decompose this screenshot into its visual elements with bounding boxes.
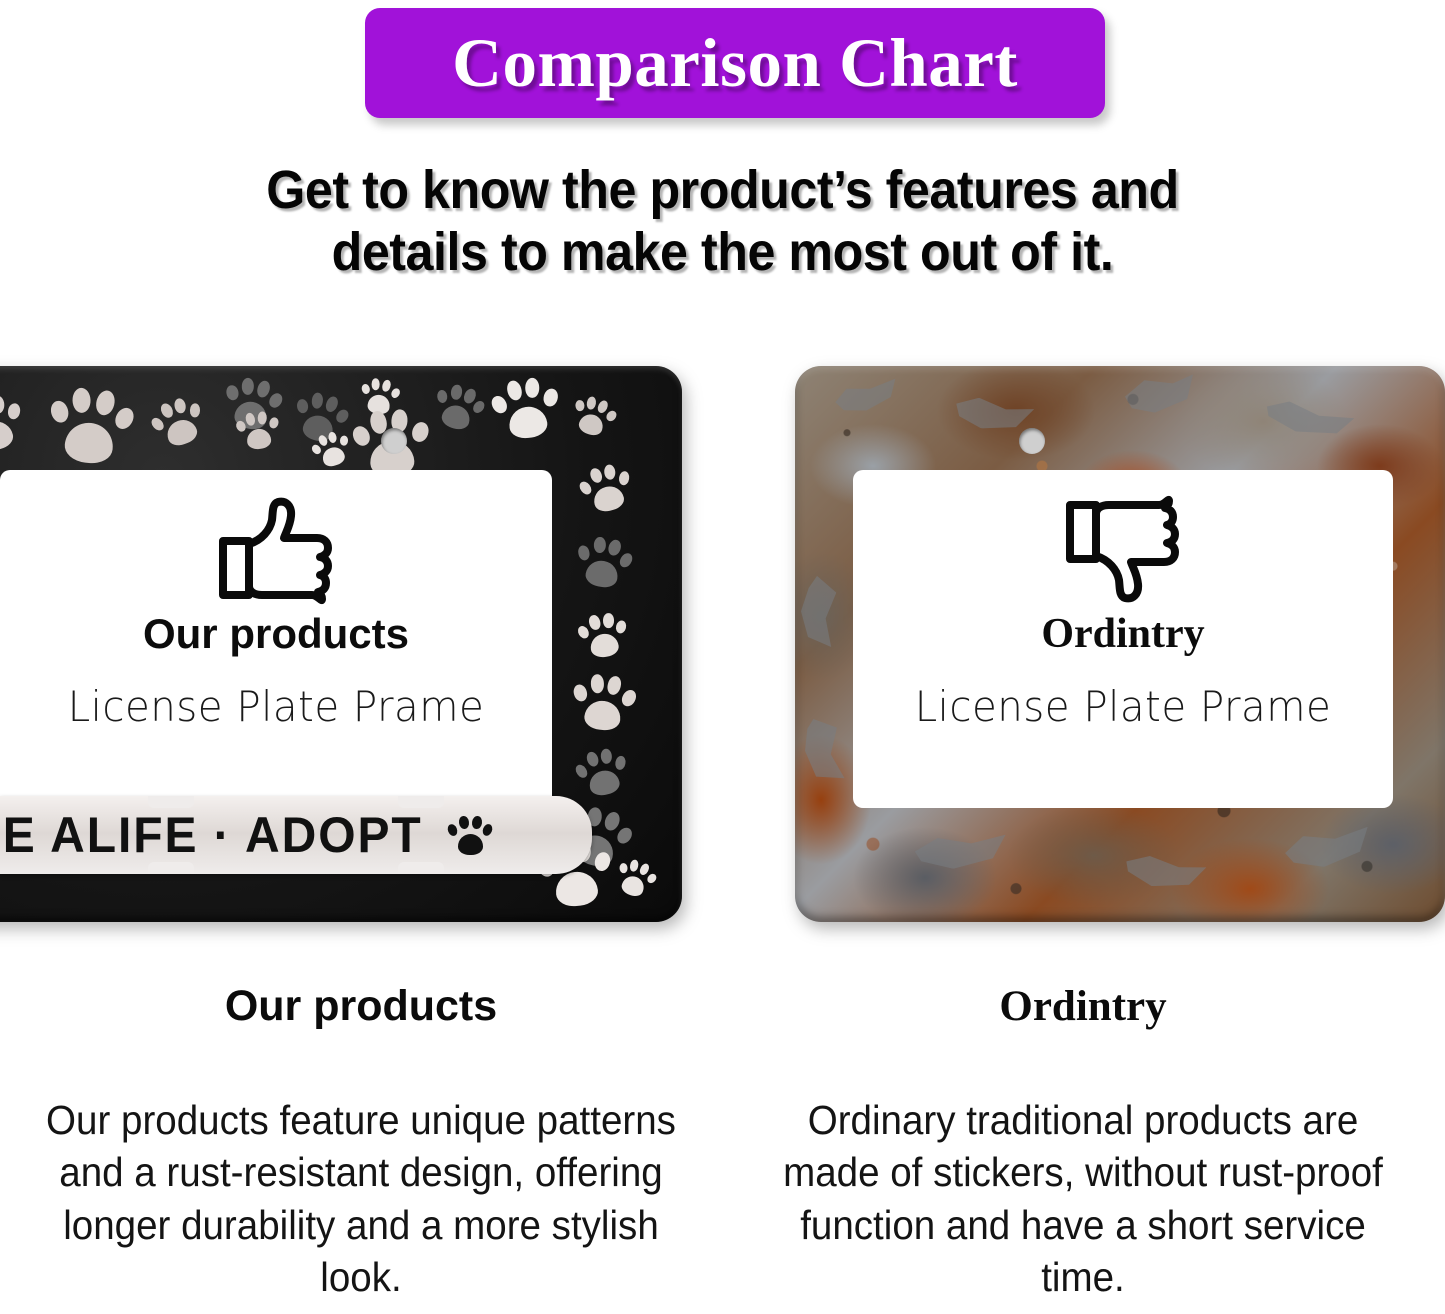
left-frame-window: Our products License Plate Prame [0, 470, 552, 808]
paint-flake [801, 716, 845, 784]
paw-print-icon [572, 530, 637, 595]
our-product-card-content: Our products License Plate Prame [0, 494, 552, 731]
ordinary-product-card-title: Ordintry [853, 612, 1393, 656]
our-product-card-subtitle: License Plate Prame [11, 682, 541, 731]
paint-flake [1283, 825, 1374, 873]
paw-print-icon [610, 852, 661, 903]
paint-flake [953, 395, 1034, 436]
mount-hole [381, 428, 407, 454]
paint-flake [833, 377, 901, 418]
paw-print-icon [574, 456, 637, 519]
ordinary-product-frame-image: Ordintry License Plate Prame [795, 366, 1445, 922]
paw-print-icon [569, 667, 639, 737]
page-title: Comparison Chart [452, 29, 1018, 98]
paint-flake [1123, 852, 1207, 894]
paw-print-icon [219, 369, 286, 436]
comparison-descriptions-row: Our products Our products feature unique… [0, 985, 1445, 1304]
paw-print-icon [566, 388, 621, 443]
our-product-description-column: Our products Our products feature unique… [0, 985, 722, 1304]
header-banner-area: Comparison Chart [0, 0, 1445, 130]
paw-print-icon [357, 373, 402, 418]
our-product-description: Our products feature unique patterns and… [37, 1094, 686, 1304]
subtitle-line-2: details to make the most out of it. [51, 222, 1395, 284]
right-frame-window: Ordintry License Plate Prame [853, 470, 1393, 808]
mount-hole [1019, 428, 1045, 454]
paint-flake [1123, 374, 1196, 415]
ordinary-product-heading: Ordintry [738, 985, 1428, 1028]
thumbs-up-icon [216, 494, 336, 606]
paint-flake [799, 575, 838, 647]
paw-print-icon [428, 376, 490, 438]
comparison-chart-banner: Comparison Chart [365, 8, 1105, 118]
subtitle: Get to know the product’s features and d… [0, 160, 1445, 283]
paw-print-icon [307, 425, 355, 473]
paw-print-icon [571, 741, 633, 803]
paint-flake [914, 832, 1008, 872]
our-product-heading: Our products [16, 985, 706, 1028]
paw-print-icon [145, 389, 212, 456]
our-product-card-title: Our products [0, 612, 552, 656]
paint-flake [1263, 397, 1355, 443]
thumbs-down-icon [1063, 494, 1183, 606]
license-plate-text: E ALIFE · ADOPT [3, 806, 423, 864]
ordinary-product-card-content: Ordintry License Plate Prame [853, 494, 1393, 731]
paw-print-icon [234, 406, 282, 454]
license-plate-strip: E ALIFE · ADOPT [0, 796, 592, 874]
comparison-images-row: Our products License Plate Prame E ALIFE… [0, 352, 1445, 932]
paw-print-icon [0, 386, 30, 460]
subtitle-line-1: Get to know the product’s features and [51, 160, 1395, 222]
paw-print-icon [44, 378, 139, 473]
ordinary-product-description: Ordinary traditional products are made o… [759, 1094, 1408, 1304]
paw-print-icon [575, 607, 631, 663]
paw-print-icon [288, 384, 353, 449]
paw-print-icon [488, 370, 565, 447]
ordinary-product-description-column: Ordintry Ordinary traditional products a… [722, 985, 1444, 1304]
ordinary-product-card-subtitle: License Plate Prame [864, 682, 1382, 731]
paw-print-icon [447, 812, 493, 858]
